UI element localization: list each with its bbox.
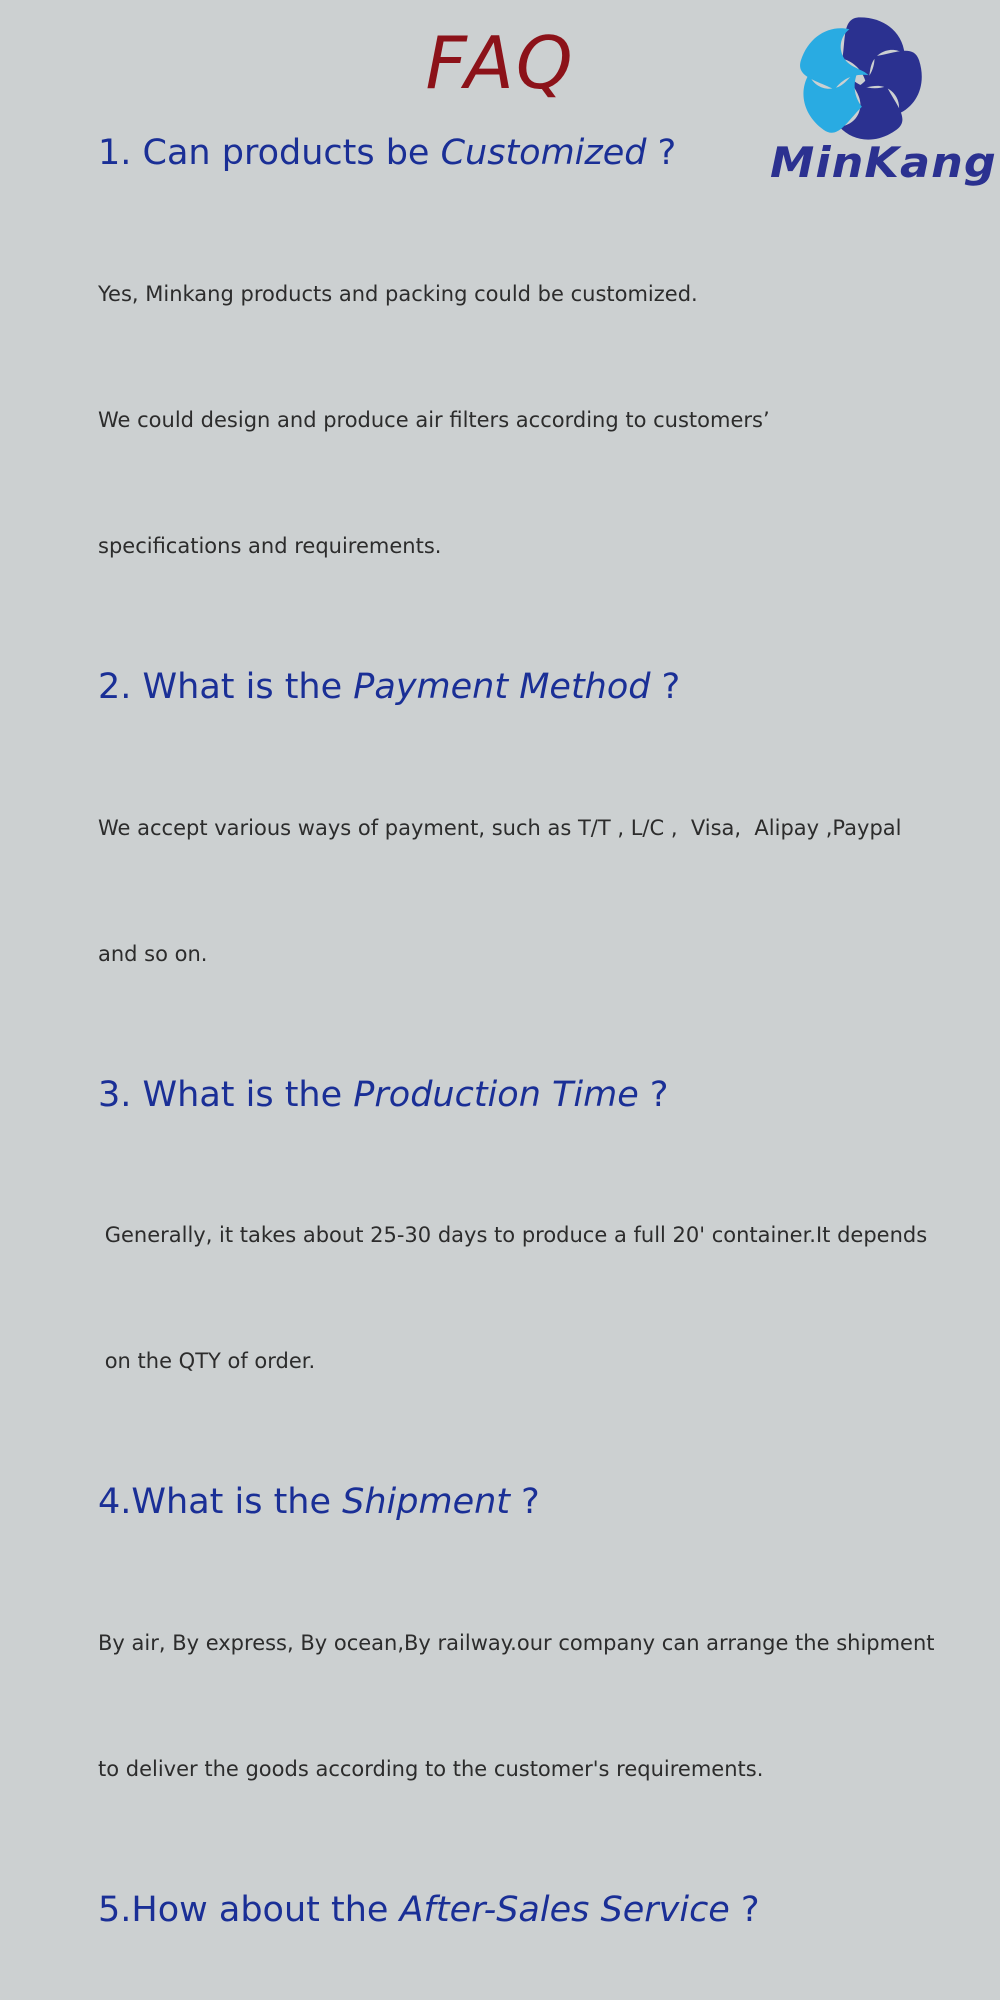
faq-question-2-number: 2. — [98, 667, 131, 707]
faq-question-4-number: 4. — [98, 1482, 131, 1522]
faq-answer-1: Yes, Minkang products and packing could … — [98, 189, 978, 651]
faq-question-3-number: 3. — [98, 1075, 131, 1115]
faq-answer-5: Our company is responsible for the suppl… — [98, 1946, 978, 2000]
faq-question-4: 4.What is the Shipment ? — [98, 1480, 978, 1524]
faq-question-5: 5.How about the After-Sales Service ? — [98, 1888, 978, 1932]
faq-question-4-suffix: ? — [510, 1482, 540, 1522]
faq-answer-1-line-1: Yes, Minkang products and packing could … — [98, 273, 978, 315]
faq-question-5-number: 5. — [98, 1890, 131, 1930]
faq-question-2-emphasis: Payment Method — [353, 667, 650, 707]
faq-question-3-suffix: ? — [639, 1075, 669, 1115]
faq-page: FAQ MinKang 1. Can products be Customize… — [0, 0, 1000, 1000]
faq-answer-4-line-1: By air, By express, By ocean,By railway.… — [98, 1622, 978, 1664]
faq-list: 1. Can products be Customized ? Yes, Min… — [98, 131, 978, 2000]
faq-question-1-emphasis: Customized — [441, 133, 647, 173]
faq-question-2-suffix: ? — [650, 667, 680, 707]
faq-question-1-number: 1. — [98, 133, 131, 173]
faq-answer-3-line-1: Generally, it takes about 25-30 days to … — [98, 1214, 978, 1256]
faq-answer-3: Generally, it takes about 25-30 days to … — [98, 1130, 978, 1466]
faq-item-4: 4.What is the Shipment ? By air, By expr… — [98, 1480, 978, 1874]
faq-question-4-emphasis: Shipment — [342, 1482, 510, 1522]
faq-question-1-suffix: ? — [647, 133, 677, 173]
faq-question-3-prefix: What is the — [131, 1075, 353, 1115]
faq-answer-4: By air, By express, By ocean,By railway.… — [98, 1538, 978, 1874]
faq-answer-1-line-2: We could design and produce air filters … — [98, 399, 978, 441]
faq-answer-4-line-2: to deliver the goods according to the cu… — [98, 1748, 978, 1790]
faq-answer-1-line-3: specifications and requirements. — [98, 525, 978, 567]
faq-question-2: 2. What is the Payment Method ? — [98, 665, 978, 709]
faq-question-3-emphasis: Production Time — [353, 1075, 638, 1115]
faq-question-4-prefix: What is the — [131, 1482, 342, 1522]
faq-question-2-prefix: What is the — [131, 667, 353, 707]
faq-item-5: 5.How about the After-Sales Service ? Ou… — [98, 1888, 978, 2000]
faq-answer-2-line-2: and so on. — [98, 933, 978, 975]
faq-answer-2-line-1: We accept various ways of payment, such … — [98, 807, 978, 849]
faq-question-5-prefix: How about the — [131, 1890, 399, 1930]
faq-question-3: 3. What is the Production Time ? — [98, 1073, 978, 1117]
faq-answer-3-line-2: on the QTY of order. — [98, 1340, 978, 1382]
faq-question-1: 1. Can products be Customized ? — [98, 131, 978, 175]
faq-question-5-suffix: ? — [730, 1890, 760, 1930]
faq-item-1: 1. Can products be Customized ? Yes, Min… — [98, 131, 978, 651]
faq-item-3: 3. What is the Production Time ? General… — [98, 1073, 978, 1466]
pinwheel-swirl-logo-icon — [790, 12, 930, 147]
faq-question-1-prefix: Can products be — [131, 133, 440, 173]
faq-answer-2: We accept various ways of payment, such … — [98, 723, 978, 1059]
faq-question-5-emphasis: After-Sales Service — [400, 1890, 730, 1930]
